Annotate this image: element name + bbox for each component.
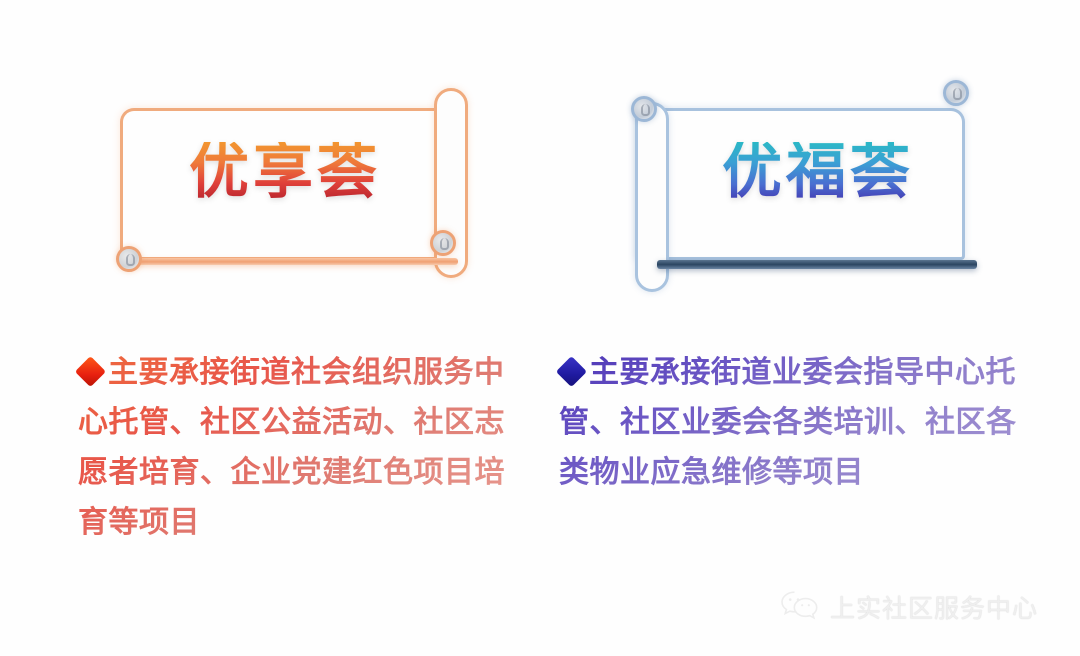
- scroll-curl-knob-icon: [943, 80, 969, 106]
- panel-youfuhui: 优福荟 主要承接街道业委会指导中心托管、社区业委会各类培训、社区各类物业应急维修…: [545, 0, 1035, 656]
- scroll-curl-hook-icon: [953, 88, 962, 100]
- scroll-banner-youxianghui: 优享荟: [98, 80, 498, 290]
- scroll-banner-youfuhui: 优福荟: [613, 80, 1013, 290]
- diamond-bullet-icon: [75, 356, 106, 387]
- description-youxianghui: 主要承接街道社会组织服务中心托管、社区公益活动、社区志愿者培育、企业党建红色项目…: [78, 348, 520, 548]
- scroll-curl-knob-icon: [116, 246, 142, 272]
- wechat-icon: [778, 588, 822, 625]
- description-text-youfuhui: 主要承接街道业委会指导中心托管、社区业委会各类培训、社区各类物业应急维修等项目: [559, 355, 1017, 490]
- description-text-youxianghui: 主要承接街道社会组织服务中心托管、社区公益活动、社区志愿者培育、企业党建红色项目…: [78, 355, 505, 540]
- scroll-curl-hook-icon: [440, 238, 449, 250]
- scroll-curl-knob-icon: [631, 96, 657, 122]
- watermark: 上实社区服务中心: [778, 588, 1038, 625]
- diamond-bullet-icon: [556, 356, 587, 387]
- scroll-curl-knob-icon: [430, 230, 456, 256]
- scroll-curl-hook-icon: [126, 254, 135, 266]
- watermark-label: 上实社区服务中心: [830, 589, 1038, 625]
- scroll-curl-hook-icon: [641, 104, 650, 116]
- description-youfuhui: 主要承接街道业委会指导中心托管、社区业委会各类培训、社区各类物业应急维修等项目: [559, 348, 1029, 498]
- banner-title-youxianghui: 优享荟: [120, 142, 450, 202]
- banner-title-youfuhui: 优福荟: [653, 142, 983, 202]
- panel-youxianghui: 优享荟 主要承接街道社会组织服务中心托管、社区公益活动、社区志愿者培育、企业党建…: [60, 0, 530, 656]
- scroll-bottom-rail-orange: [128, 258, 458, 265]
- scroll-bottom-rail-blue: [657, 260, 977, 269]
